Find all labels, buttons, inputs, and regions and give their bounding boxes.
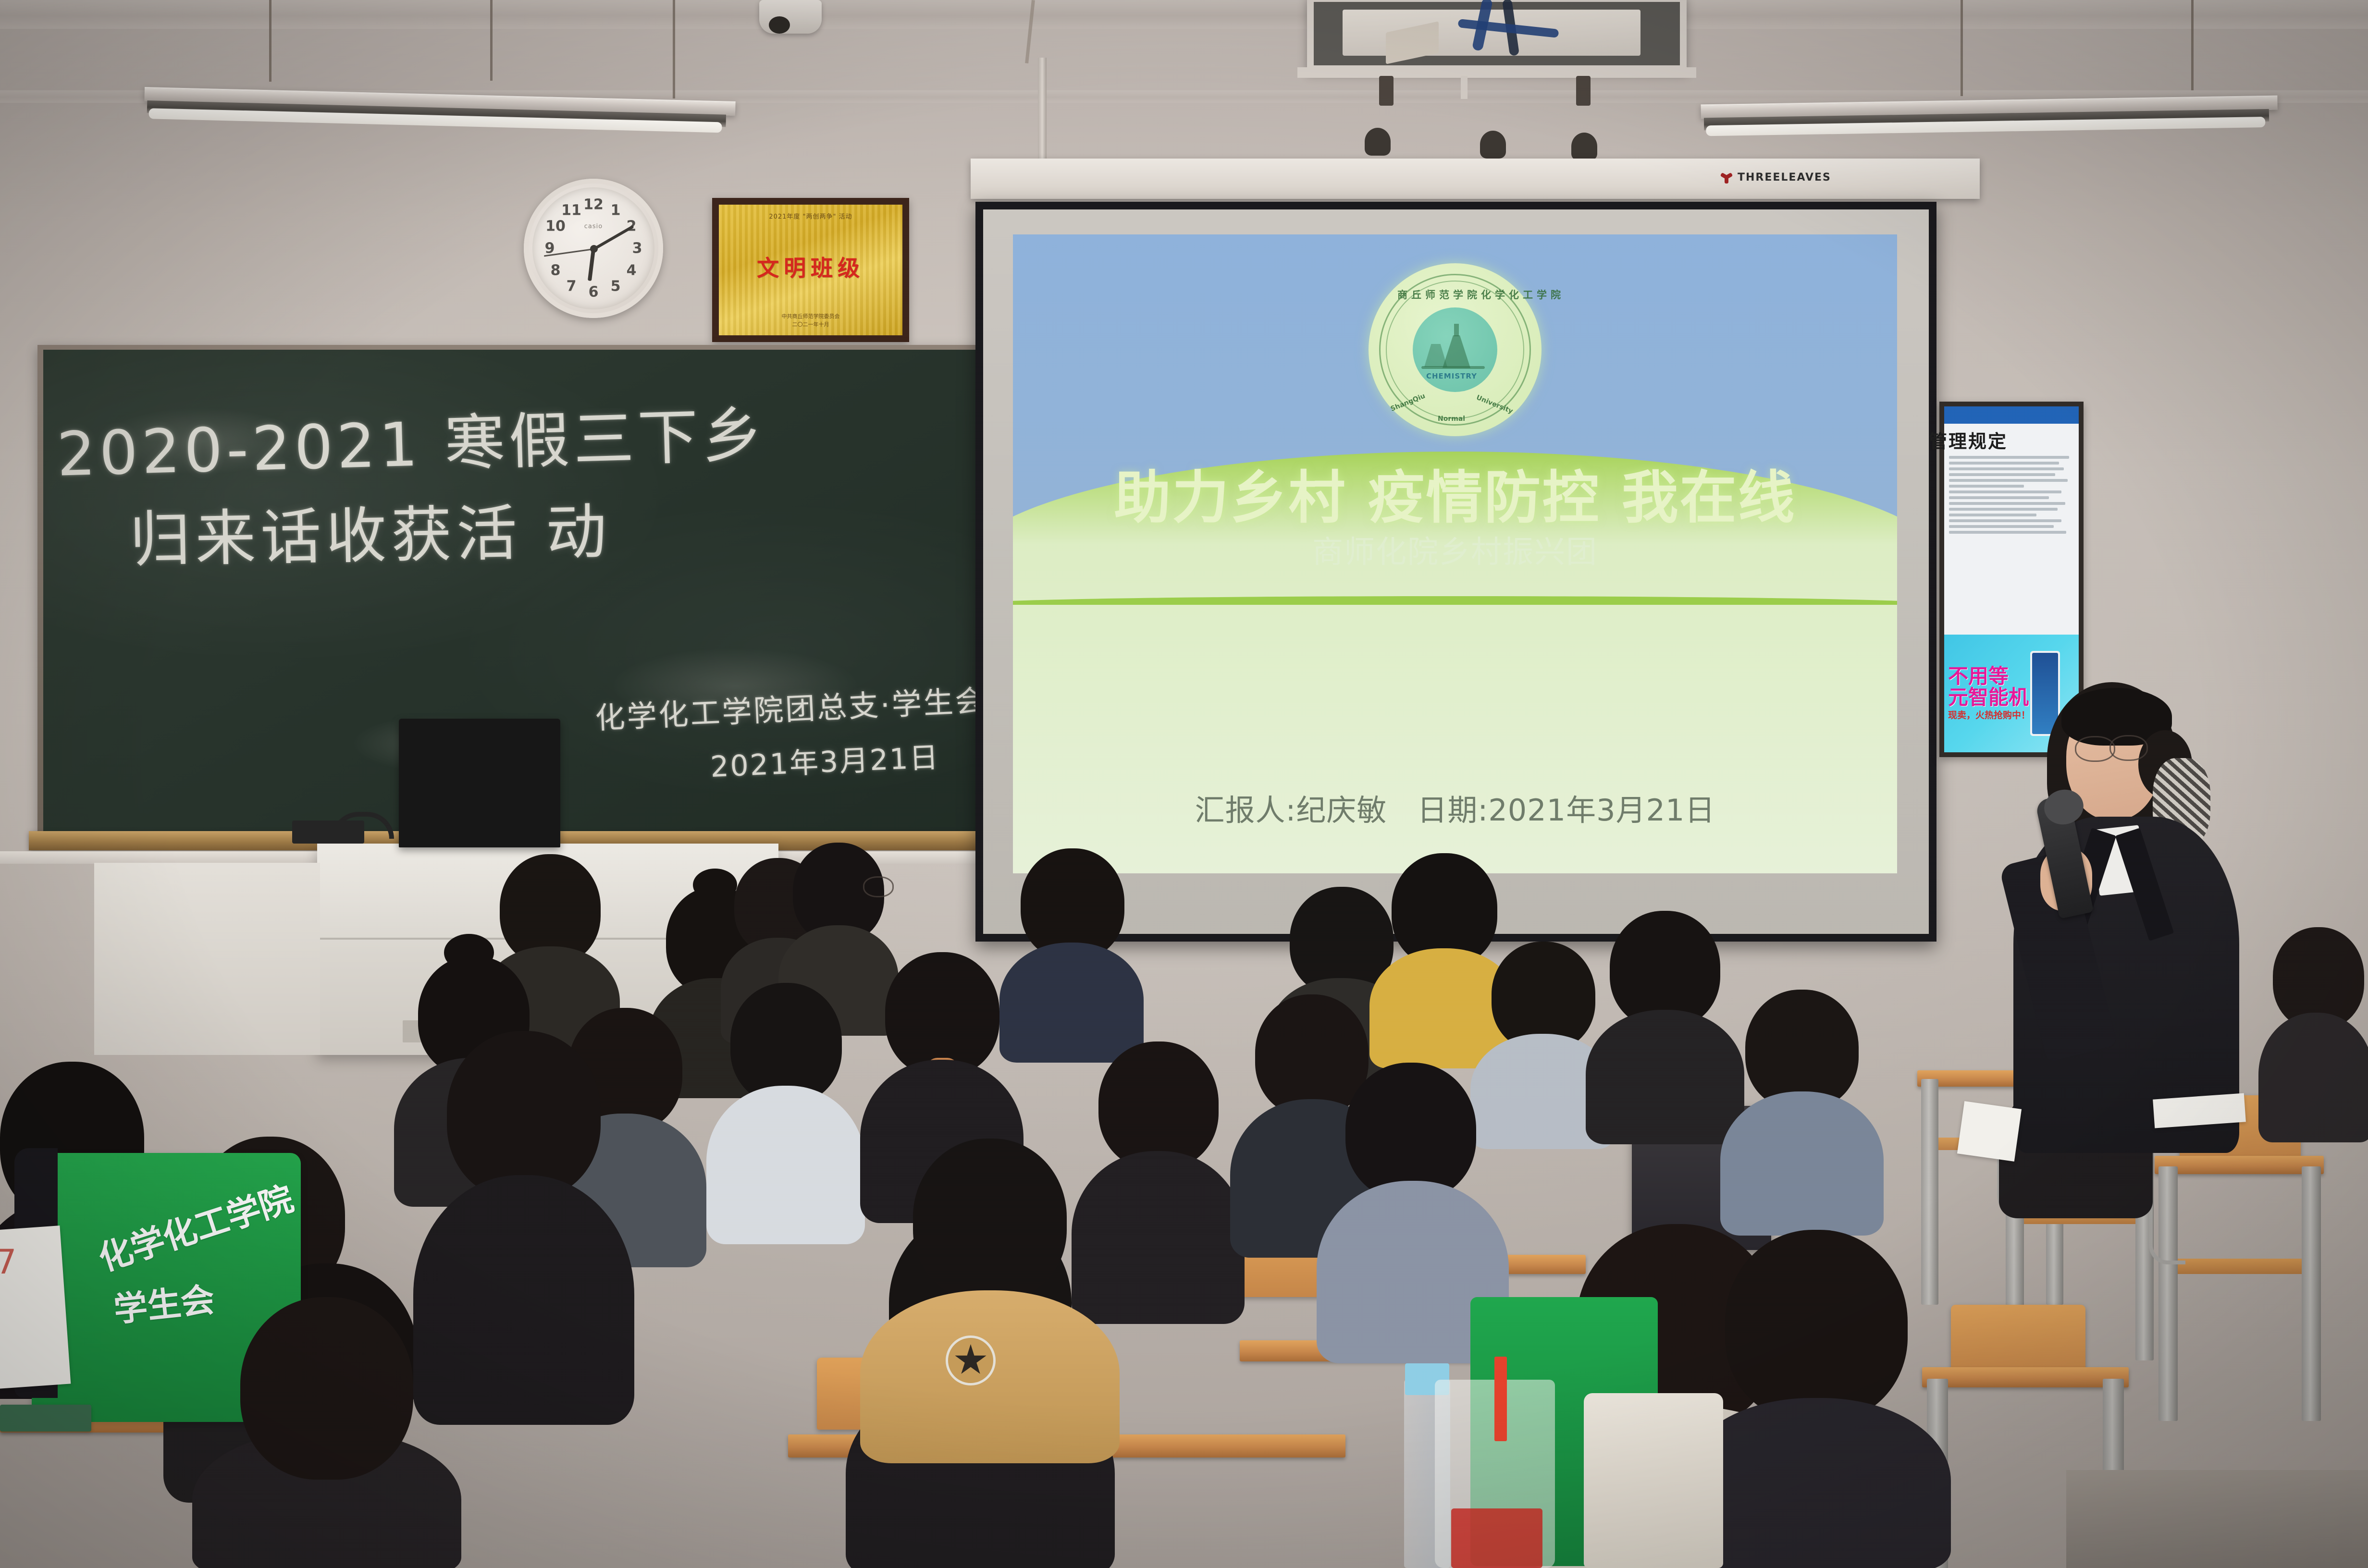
audience-member <box>1720 990 1884 1230</box>
beaker-icon <box>1424 344 1447 367</box>
podium-device <box>292 821 364 844</box>
slide-title: 助力乡村 疫情防控 我在线 <box>1114 452 1796 534</box>
projector-cage-bar <box>1297 67 1696 78</box>
camera-lens-icon <box>769 16 790 34</box>
clock-numeral: 4 <box>627 262 637 279</box>
light-suspension-wire <box>673 0 675 98</box>
emblem-chinese-name: 商丘师范学院化学化工学院 <box>1397 287 1513 302</box>
audience-member-foreground <box>202 1297 452 1568</box>
emblem-core-word: CHEMISTRY <box>1426 372 1477 380</box>
clock-numeral: 8 <box>551 262 561 279</box>
slide-subtitle: 商师化院乡村振兴团 <box>1312 527 1598 572</box>
clock-numeral: 10 <box>545 218 566 235</box>
plaque-issuer: 中共商丘师范学院委员会 二〇二一年十月 <box>782 313 840 329</box>
eyeglasses-icon <box>863 876 894 897</box>
white-tote-bag <box>1584 1393 1723 1568</box>
audience-member <box>706 983 865 1242</box>
projector-mount-leg <box>1576 76 1591 106</box>
clock-numeral: 1 <box>611 202 621 219</box>
ceiling-downlight <box>1571 133 1597 160</box>
light-suspension-wire <box>1961 0 1963 96</box>
audience-member-khaki-jacket <box>860 1153 1120 1460</box>
chalk-date: 2021年3月21日 <box>709 734 940 785</box>
flask-icon <box>1443 335 1470 368</box>
podium-side-panel <box>94 863 320 1055</box>
clock-numeral: 5 <box>611 278 621 295</box>
clock-numeral: 3 <box>632 240 642 257</box>
emblem-pinyin-mid: Normal <box>1438 415 1465 423</box>
projection-screen-frame: CHEMISTRY 商丘师范学院化学化工学院 ShangQiu Normal U… <box>975 202 1936 942</box>
clock-numeral: 12 <box>583 196 604 213</box>
podium-monitor <box>399 719 560 847</box>
projector-screen-housing: THREELEAVES <box>971 159 1980 199</box>
threeleaves-logo-icon <box>1720 171 1733 184</box>
chalk-title-line2: 归来话收获活 动 <box>129 483 612 578</box>
wall-clock: 12 1 2 3 4 5 6 7 8 9 10 11 casio <box>524 179 663 318</box>
eyeglasses-icon <box>2109 735 2148 761</box>
light-suspension-wire <box>2191 0 2194 90</box>
flask-icon <box>1454 324 1459 336</box>
presenter <box>1994 677 2254 1167</box>
plaque-top-line: 2021年度 "两创两争" 活动 <box>769 211 852 220</box>
light-suspension-wire <box>269 0 271 82</box>
classroom-photo-scene: 12 1 2 3 4 5 6 7 8 9 10 11 casio 2021年度 … <box>0 0 2368 1568</box>
poster-header-bar <box>1944 406 2079 424</box>
emblem-base-line <box>1421 366 1485 369</box>
desk-chair-unit <box>2153 1156 2326 1425</box>
presentation-slide: CHEMISTRY 商丘师范学院化学化工学院 ShangQiu Normal U… <box>1013 234 1897 873</box>
clock-numeral: 7 <box>567 278 577 295</box>
projector-mount-leg <box>1379 76 1394 106</box>
plaque-issuer-org: 中共商丘师范学院委员会 <box>782 313 840 319</box>
khaki-jacket <box>860 1290 1120 1463</box>
poster-body-text <box>1944 453 2079 635</box>
honor-plaque: 2021年度 "两创两争" 活动 文明班级 中共商丘师范学院委员会 二〇二一年十… <box>712 198 909 342</box>
audience-member <box>2258 927 2368 1139</box>
clock-numeral: 11 <box>561 202 581 219</box>
chalk-title-line1: 2020-2021 寒假三下乡 <box>56 386 767 493</box>
security-camera <box>759 0 822 34</box>
screen-brand-label: THREELEAVES <box>1738 171 1831 184</box>
poster-title: 管理规定 <box>1924 424 2079 453</box>
plaque-main-text: 文明班级 <box>757 251 864 282</box>
ceiling-edge <box>0 0 2368 29</box>
slide-footer-credit: 汇报人:纪庆敏 日期:2021年3月21日 <box>1195 786 1715 829</box>
ceiling-downlight <box>1480 131 1506 159</box>
screen-brand-mark: THREELEAVES <box>1720 171 1831 184</box>
red-package <box>1451 1508 1542 1568</box>
university-emblem: CHEMISTRY 商丘师范学院化学化工学院 ShangQiu Normal U… <box>1369 263 1542 436</box>
classroom-floor <box>2066 1470 2368 1568</box>
clock-numeral: 6 <box>589 284 599 301</box>
projection-screen-surface: CHEMISTRY 商丘师范学院化学化工学院 ShangQiu Normal U… <box>983 209 1929 934</box>
clock-brand-label: casio <box>584 223 603 230</box>
ceiling-downlight <box>1365 128 1391 156</box>
drinking-straw <box>1494 1357 1507 1441</box>
note-red-mark: 7 <box>0 1247 29 1324</box>
light-suspension-wire <box>490 0 493 81</box>
ceiling-projector-cage <box>1307 0 1687 72</box>
paper-sheet <box>1957 1101 2022 1162</box>
projector-mount-rod <box>1461 76 1468 99</box>
plaque-issuer-date: 二〇二一年十月 <box>792 321 829 328</box>
emblem-center-disc: CHEMISTRY <box>1413 307 1497 392</box>
book-on-desk <box>0 1405 91 1432</box>
clock-hour-hand <box>588 249 595 281</box>
